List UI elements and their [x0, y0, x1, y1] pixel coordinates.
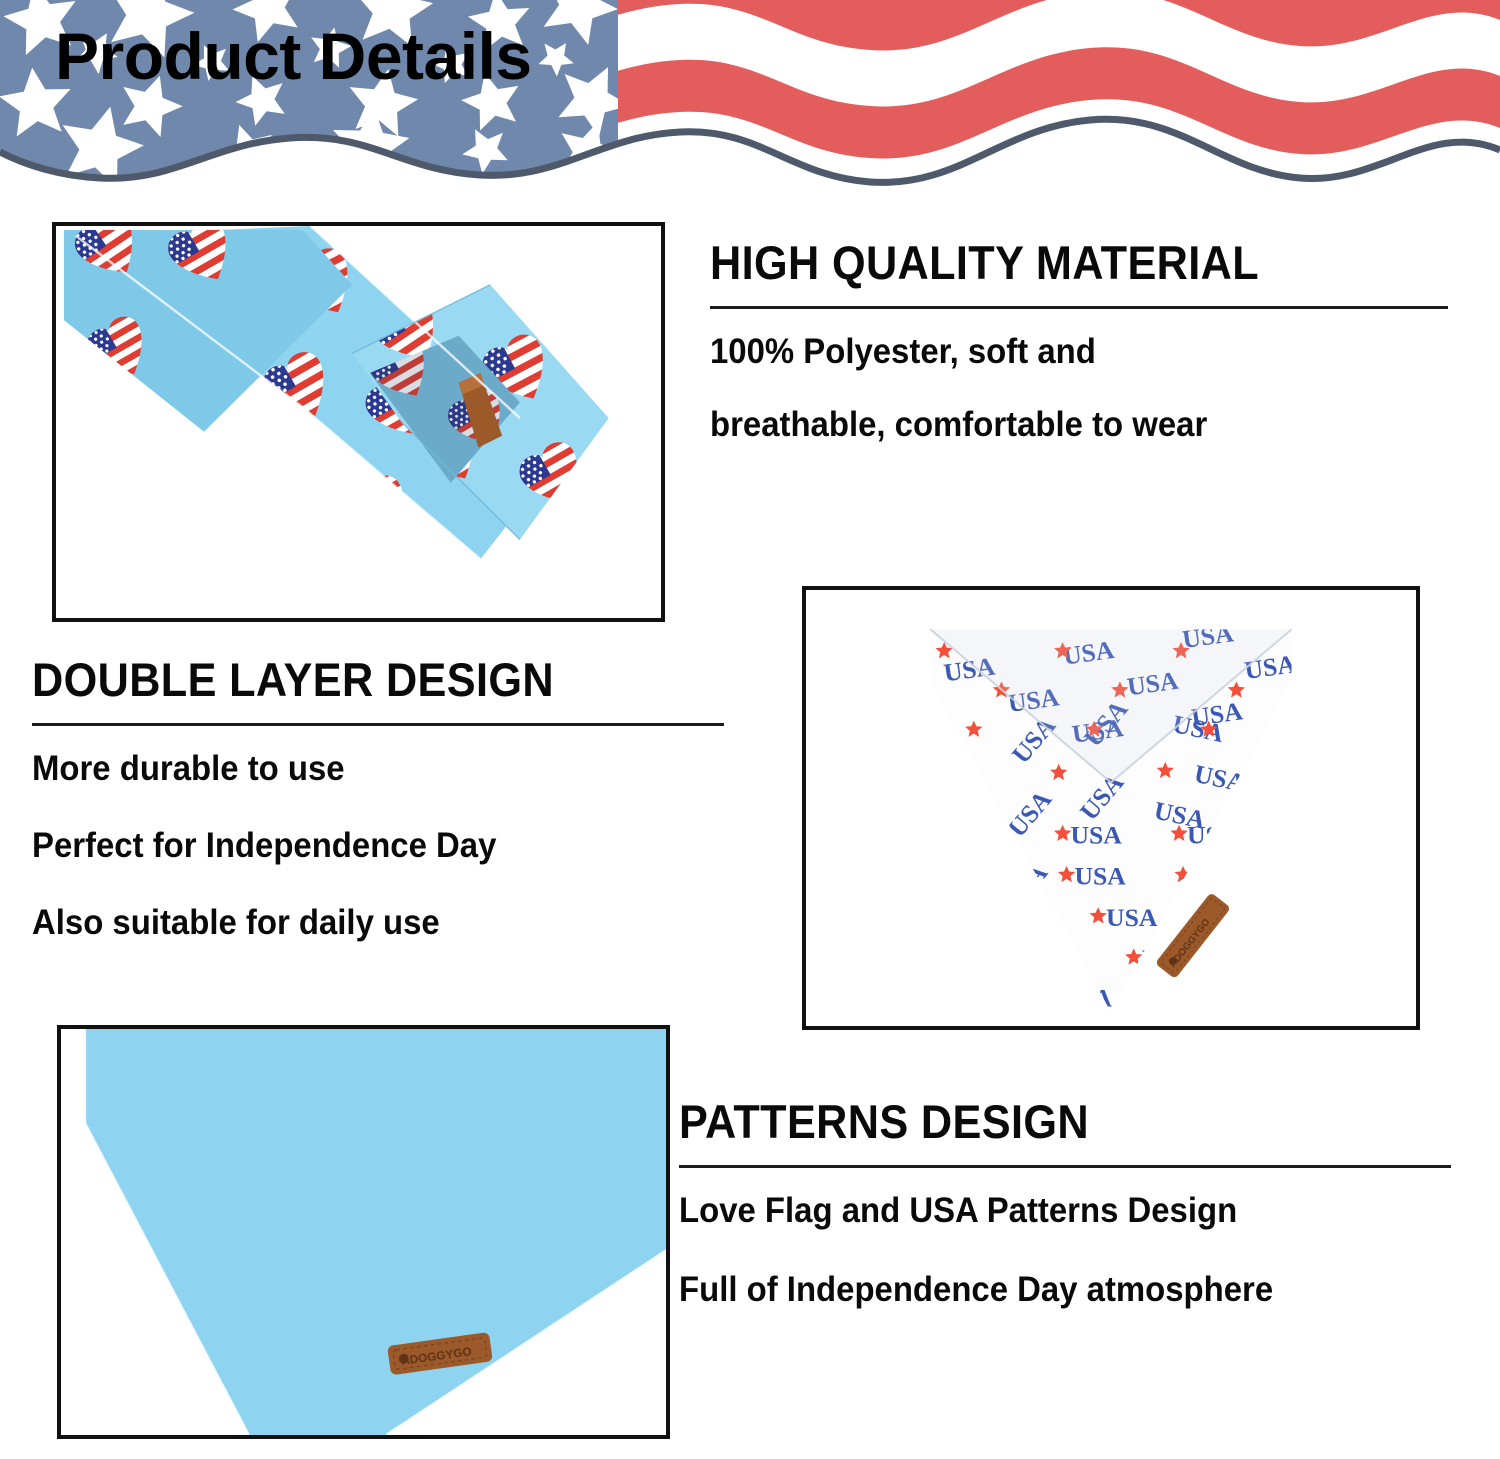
section-line: breathable, comfortable to wear: [710, 407, 1404, 442]
svg-text:USA: USA: [1074, 862, 1126, 891]
section-line: 100% Polyester, soft and: [710, 334, 1404, 369]
product-photo-folded-bandana: [52, 222, 665, 622]
section-divider: [710, 306, 1448, 309]
heart-flag-bandana-illustration: ADOGGYGO: [61, 1029, 666, 1435]
section-line: Perfect for Independence Day: [32, 828, 682, 863]
header-banner: Product Details: [0, 0, 1500, 210]
section-heading: PATTERNS DESIGN: [679, 1097, 1389, 1148]
section-divider: [679, 1165, 1451, 1168]
section-line: Full of Independence Day atmosphere: [679, 1272, 1405, 1307]
section-high-quality-material: HIGH QUALITY MATERIAL 100% Polyester, so…: [710, 238, 1448, 442]
section-line: Love Flag and USA Patterns Design: [679, 1193, 1405, 1228]
section-patterns-design: PATTERNS DESIGN Love Flag and USA Patter…: [679, 1097, 1451, 1351]
section-double-layer-design: DOUBLE LAYER DESIGN More durable to use …: [32, 655, 724, 982]
svg-text:USA: USA: [1071, 820, 1123, 849]
section-divider: [32, 723, 724, 726]
svg-text:USA: USA: [1106, 903, 1158, 932]
folded-bandana-illustration: [56, 226, 661, 618]
section-heading: HIGH QUALITY MATERIAL: [710, 238, 1389, 289]
section-line: More durable to use: [32, 751, 682, 786]
usa-bandana-illustration: USAUSAUSA USAUSAUSA USAUSA USAUSA USAUSA…: [806, 590, 1416, 1026]
page-title: Product Details: [55, 18, 532, 96]
product-photo-usa-bandana: USAUSAUSA USAUSAUSA USAUSA USAUSA USAUSA…: [802, 586, 1420, 1030]
section-line: Also suitable for daily use: [32, 905, 682, 940]
section-heading: DOUBLE LAYER DESIGN: [32, 655, 669, 706]
product-photo-heart-flag-bandana: ADOGGYGO: [57, 1025, 670, 1439]
